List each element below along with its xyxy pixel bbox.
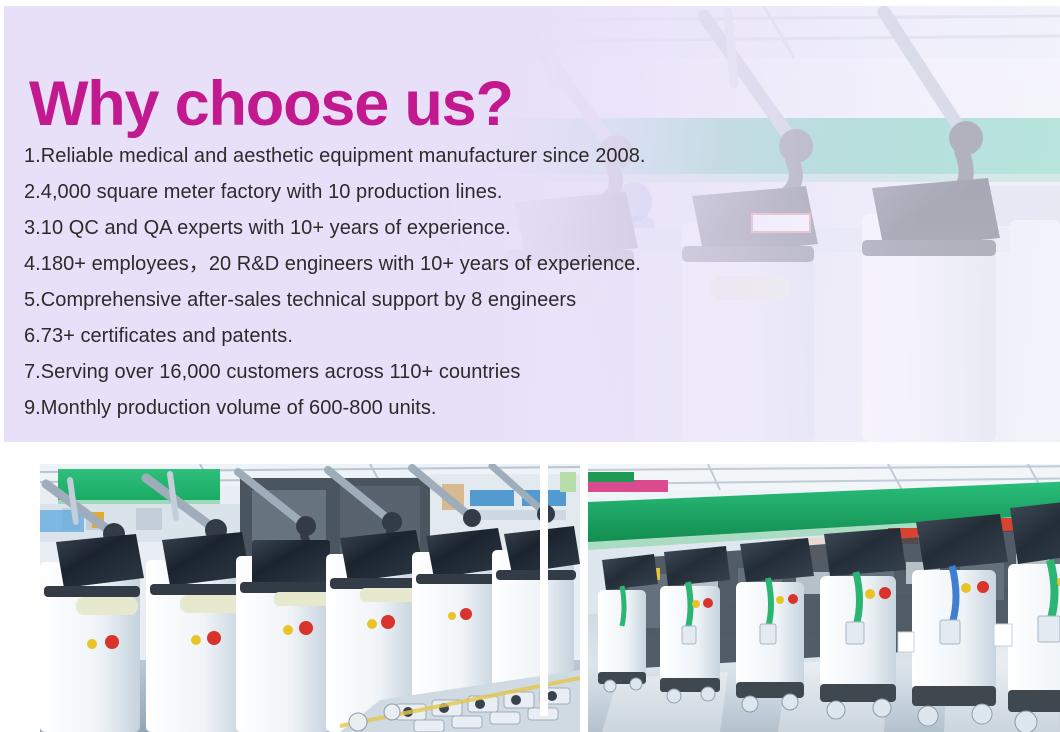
list-item-number: 9. <box>24 397 41 419</box>
list-item: 6.73+ certificates and patents. <box>24 318 784 354</box>
list-item-number: 2. <box>24 181 41 203</box>
factory-photo-right <box>588 464 1060 732</box>
list-item-text: 180+ employees，20 R&D engineers with 10+… <box>41 253 641 275</box>
list-item: 3.10 QC and QA experts with 10+ years of… <box>24 210 784 246</box>
list-item-number: 7. <box>24 361 41 383</box>
benefits-list: 1.Reliable medical and aesthetic equipme… <box>24 138 784 426</box>
list-item-text: 10 QC and QA experts with 10+ years of e… <box>41 217 511 239</box>
list-item: 1.Reliable medical and aesthetic equipme… <box>24 138 784 174</box>
list-item-text: 73+ certificates and patents. <box>41 325 293 347</box>
list-item: 4.180+ employees，20 R&D engineers with 1… <box>24 246 784 282</box>
list-item-number: 4. <box>24 253 41 275</box>
list-item-text: 4,000 square meter factory with 10 produ… <box>41 181 503 203</box>
list-item: 2.4,000 square meter factory with 10 pro… <box>24 174 784 210</box>
list-item-number: 3. <box>24 217 41 239</box>
hero-panel: Why choose us? 1.Reliable medical and ae… <box>0 0 1060 448</box>
factory-photo-left <box>40 464 580 732</box>
list-item-text: Monthly production volume of 600-800 uni… <box>41 397 437 419</box>
photo-gallery <box>0 448 1060 716</box>
gallery-gutter <box>540 448 548 716</box>
page-title: Why choose us? <box>29 69 513 139</box>
list-item: 5.Comprehensive after-sales technical su… <box>24 282 784 318</box>
list-item: 7.Serving over 16,000 customers across 1… <box>24 354 784 390</box>
list-item-text: Comprehensive after-sales technical supp… <box>41 289 576 311</box>
list-item-number: 5. <box>24 289 41 311</box>
list-item-number: 1. <box>24 145 41 167</box>
slide-root: Why choose us? 1.Reliable medical and ae… <box>0 0 1060 716</box>
list-item-number: 6. <box>24 325 41 347</box>
list-item-text: Serving over 16,000 customers across 110… <box>41 361 521 383</box>
list-item-text: Reliable medical and aesthetic equipment… <box>41 145 646 167</box>
hero-content: Why choose us? 1.Reliable medical and ae… <box>0 0 1060 448</box>
list-item: 9.Monthly production volume of 600-800 u… <box>24 390 784 426</box>
